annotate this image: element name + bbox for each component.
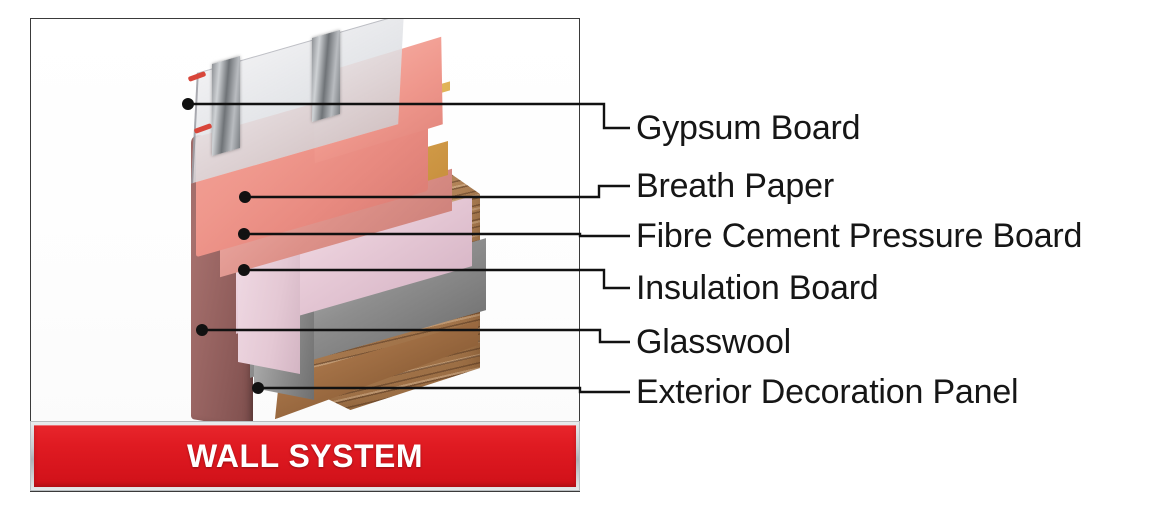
callout-label-gypsum-board: Gypsum Board xyxy=(636,111,860,145)
callout-label-fibre-cement-pressure-board: Fibre Cement Pressure Board xyxy=(636,219,1082,253)
wall-cutaway-illustration xyxy=(166,34,496,424)
wall-system-diagram: WALL SYSTEM Gypsum BoardBreath PaperFibr… xyxy=(0,0,1166,518)
callout-label-glasswool: Glasswool xyxy=(636,325,791,359)
callout-label-insulation-board: Insulation Board xyxy=(636,271,879,305)
title-banner-fill: WALL SYSTEM xyxy=(34,425,576,487)
metal-stud xyxy=(212,56,240,156)
page-title: WALL SYSTEM xyxy=(187,438,423,475)
callout-label-breath-paper: Breath Paper xyxy=(636,169,834,203)
title-banner: WALL SYSTEM xyxy=(30,421,580,491)
callout-label-exterior-decoration-panel: Exterior Decoration Panel xyxy=(636,375,1018,409)
metal-stud xyxy=(312,30,340,122)
